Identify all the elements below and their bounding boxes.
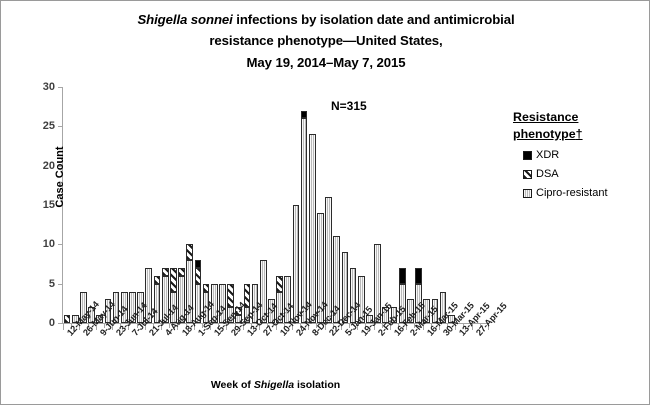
bar-segment-dsa: [195, 268, 202, 284]
bar-segment-dsa: [203, 284, 210, 292]
legend-item-label: XDR: [536, 149, 559, 161]
bar-segment-dsa: [162, 268, 169, 276]
chart-title-line-3: May 19, 2014–May 7, 2015: [1, 52, 650, 73]
light-stipple-swatch-icon: [523, 189, 532, 198]
y-axis-tick-label: 25: [29, 120, 55, 132]
y-axis-tick-mark: [58, 323, 62, 324]
legend-title-line-2: phenotype: [513, 127, 576, 141]
chart-title-line-2: resistance phenotype—United States,: [1, 30, 650, 51]
chart-title-line-1: Shigella sonnei infections by isolation …: [1, 9, 650, 30]
bar-segment-dsa: [154, 276, 161, 284]
bar-segment-dsa: [64, 315, 71, 323]
x-axis-tick-mark: [63, 323, 64, 330]
chart-title: Shigella sonnei infections by isolation …: [1, 9, 650, 73]
bar-segment-xdr: [399, 268, 406, 284]
legend-items: XDRDSACipro-resistant: [505, 149, 645, 199]
legend-title-line-1: Resistance: [513, 110, 578, 124]
y-axis-tick-label: 15: [29, 199, 55, 211]
bar-stack[interactable]: [293, 205, 300, 323]
bar-segment-cipro-resistant: [293, 205, 300, 323]
legend-title-dagger: †: [576, 127, 583, 141]
legend-item-label: DSA: [536, 168, 559, 180]
bar-segment-dsa: [170, 268, 177, 292]
bar-segment-dsa: [276, 276, 283, 292]
y-axis-tick-mark: [58, 284, 62, 285]
bar-segment-cipro-resistant: [301, 118, 308, 323]
plot-area: [63, 87, 488, 323]
x-axis-title-post: isolation: [294, 379, 340, 391]
bar-segment-cipro-resistant: [309, 134, 316, 323]
bar-segment-dsa: [186, 244, 193, 260]
y-axis-tick-label: 30: [29, 81, 55, 93]
bar-segment-dsa: [178, 268, 185, 276]
y-axis-tick-label: 5: [29, 278, 55, 290]
diagonal-hatch-swatch-icon: [523, 170, 532, 179]
y-axis-tick-label: 20: [29, 160, 55, 172]
legend-title: Resistance phenotype†: [513, 109, 645, 142]
y-axis-tick-label: 10: [29, 238, 55, 250]
y-axis-tick-mark: [58, 244, 62, 245]
bar-segment-xdr: [415, 268, 422, 284]
chart-legend: Resistance phenotype† XDRDSACipro-resist…: [505, 109, 645, 199]
chart-title-line-1-rest: infections by isolation date and antimic…: [233, 12, 515, 27]
y-axis-tick-mark: [58, 87, 62, 88]
bar-stack[interactable]: [309, 134, 316, 323]
bar-segment-xdr: [301, 111, 308, 119]
x-axis-title-species: Shigella: [254, 379, 294, 391]
bar-stack[interactable]: [301, 111, 308, 323]
bar-segment-dsa: [227, 284, 234, 308]
chart-title-species: Shigella sonnei: [137, 12, 232, 27]
legend-item[interactable]: XDR: [523, 149, 645, 161]
x-axis-title: Week of Shigella isolation: [63, 379, 488, 391]
x-axis-title-pre: Week of: [211, 379, 254, 391]
solid-black-swatch-icon: [523, 151, 532, 160]
legend-item[interactable]: Cipro-resistant: [523, 187, 645, 199]
chart-figure: Shigella sonnei infections by isolation …: [0, 0, 650, 405]
legend-item-label: Cipro-resistant: [536, 187, 608, 199]
legend-item[interactable]: DSA: [523, 168, 645, 180]
y-axis-tick-label: 0: [29, 317, 55, 329]
bar-stack[interactable]: [64, 315, 71, 323]
bar-segment-xdr: [195, 260, 202, 268]
